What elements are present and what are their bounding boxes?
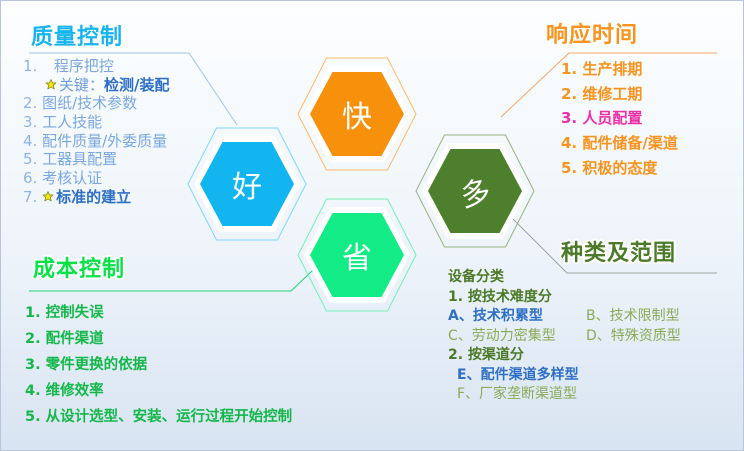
scope-item-e: E、配件渠道多样型	[448, 367, 681, 384]
list-item-number: 4.	[25, 383, 41, 399]
list-item: 5. 积极的态度	[561, 160, 678, 178]
list-item-label: 标准的建立	[56, 188, 131, 206]
list-item-number: 2.	[25, 331, 41, 347]
list-item: 3. 工人技能	[23, 114, 170, 132]
slide-canvas: 质量控制 1. 程序把控 关键：检测/装配 2. 图纸/技术参数 3. 工人技能…	[0, 0, 744, 451]
list-item-label: 考核认证	[42, 169, 102, 187]
list-item: 7. 标准的建立	[23, 189, 170, 207]
key-emphasis: 检测/装配	[104, 76, 169, 94]
scope-row-cd: C、劳动力密集型D、特殊资质型	[448, 328, 681, 345]
list-item-number: 3.	[25, 357, 41, 373]
list-item-label: 程序把控	[54, 57, 114, 75]
list-item: 5. 工器具配置	[23, 151, 170, 169]
list-quality-control: 1. 程序把控 关键：检测/装配 2. 图纸/技术参数 3. 工人技能 4. 配…	[23, 58, 170, 208]
list-item-label: 配件渠道	[46, 331, 104, 347]
list-item-label: 人员配置	[582, 109, 642, 127]
scope-item-c: C、劳动力密集型	[448, 328, 586, 345]
list-item-label: 零件更换的依据	[46, 357, 148, 373]
list-item: 4. 配件质量/外委质量	[23, 133, 170, 151]
list-item-label: 生产排期	[582, 60, 642, 78]
scope-group-2: 2. 按渠道分	[448, 347, 681, 364]
scope-item-b: B、技术限制型	[586, 308, 680, 324]
section-title-quality: 质量控制	[31, 19, 123, 51]
list-item-label: 工器具配置	[42, 150, 117, 168]
list-item: 1. 程序把控	[23, 58, 170, 76]
section-title-scope: 种类及范围	[561, 235, 676, 267]
list-cost-control: 1. 控制失误 2. 配件渠道 3. 零件更换的依据 4. 维修效率 5. 从设…	[25, 305, 292, 436]
section-title-response: 响应时间	[546, 17, 638, 49]
list-item-number: 1.	[561, 60, 577, 78]
list-item-number: 4.	[23, 133, 37, 151]
list-item-number: 5.	[561, 159, 577, 177]
list-item: 2. 配件渠道	[25, 331, 292, 348]
list-item-number: 4.	[561, 134, 577, 152]
list-item-label: 维修效率	[46, 383, 104, 399]
list-item-label: 维修工期	[582, 85, 642, 103]
list-item-number: 5.	[25, 409, 41, 425]
list-item-number: 2.	[23, 95, 37, 113]
star-icon	[42, 190, 54, 202]
list-item-label: 配件储备/渠道	[582, 134, 677, 152]
list-item-number: 2.	[561, 85, 577, 103]
scope-item-d: D、特殊资质型	[586, 328, 681, 344]
list-item-number: 5.	[23, 151, 37, 169]
list-item: 4. 配件储备/渠道	[561, 135, 678, 153]
scope-group-1: 1. 按技术难度分	[448, 289, 681, 306]
list-item-number: 6.	[23, 170, 37, 188]
list-item: 2. 图纸/技术参数	[23, 95, 170, 113]
list-item-label: 积极的态度	[582, 159, 657, 177]
scope-heading: 设备分类	[448, 269, 681, 286]
scope-item-f: F、厂家垄断渠道型	[448, 386, 681, 403]
list-item: 4. 维修效率	[25, 383, 292, 400]
list-item-number: 1.	[23, 58, 37, 76]
list-item-number: 3.	[23, 114, 37, 132]
list-item: 6. 考核认证	[23, 170, 170, 188]
list-item: 1. 生产排期	[561, 61, 678, 79]
list-item: 3. 零件更换的依据	[25, 357, 292, 374]
list-item: 5. 从设计选型、安装、运行过程开始控制	[25, 409, 292, 426]
hexagon-duo[interactable]: 多	[414, 133, 536, 249]
list-item-label: 图纸/技术参数	[42, 94, 137, 112]
list-item-key: 关键：检测/装配	[23, 77, 170, 95]
list-item-label: 配件质量/外委质量	[42, 132, 167, 150]
scope-row-ab: A、技术积累型B、技术限制型	[448, 308, 681, 325]
list-item-number: 3.	[561, 109, 577, 127]
list-item: 2. 维修工期	[561, 86, 678, 104]
list-item-number: 1.	[25, 305, 41, 321]
scope-item-a: A、技术积累型	[448, 308, 586, 325]
hexagon-sheng[interactable]: 省	[296, 197, 418, 313]
list-item-label: 控制失误	[46, 305, 104, 321]
hexagon-hao[interactable]: 好	[186, 126, 308, 242]
list-item: 3. 人员配置	[561, 110, 678, 128]
hexagon-kuai[interactable]: 快	[296, 56, 418, 172]
list-item-number: 7.	[23, 189, 37, 207]
list-item-label: 工人技能	[42, 113, 102, 131]
list-equipment-scope: 设备分类 1. 按技术难度分 A、技术积累型B、技术限制型 C、劳动力密集型D、…	[448, 269, 681, 406]
list-item-label: 从设计选型、安装、运行过程开始控制	[46, 409, 293, 425]
list-item: 1. 控制失误	[25, 305, 292, 322]
star-icon	[45, 78, 57, 90]
key-label: 关键：	[59, 76, 104, 94]
section-title-cost: 成本控制	[33, 251, 125, 283]
list-response-time: 1. 生产排期 2. 维修工期 3. 人员配置 4. 配件储备/渠道 5. 积极…	[561, 61, 678, 184]
